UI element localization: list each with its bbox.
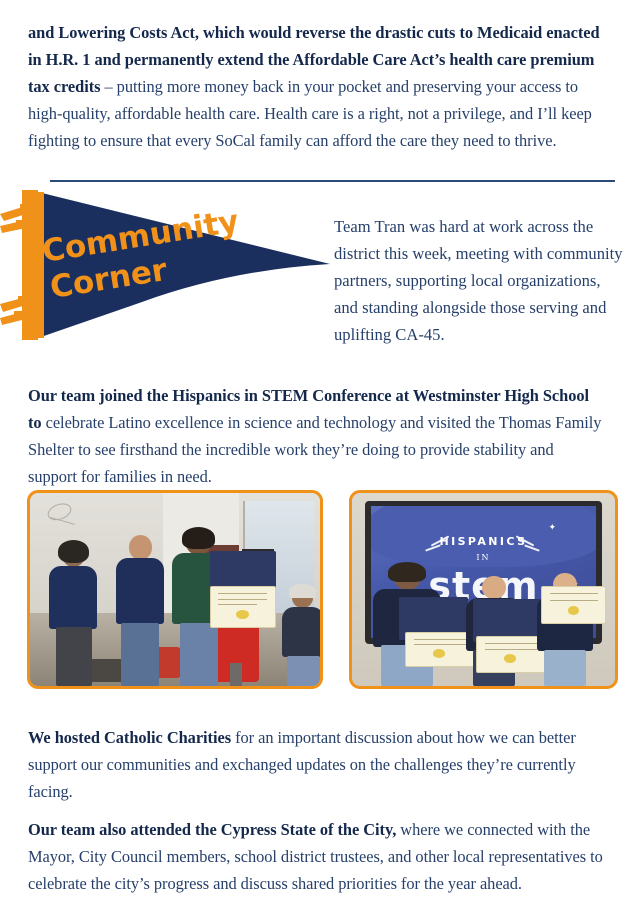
stem-paragraph-rest: celebrate Latino excellence in science a… — [28, 413, 601, 486]
screen-title: HISPANICS — [371, 535, 595, 548]
photo-left-scene — [30, 493, 320, 686]
screen-connector: IN — [371, 553, 595, 562]
pennant-pole-edge — [38, 192, 44, 338]
sparkle-icon: ✦ — [549, 522, 557, 533]
photo-right-scene: ✦ ✦ HISPANICS IN stem — [352, 493, 615, 686]
stem-paragraph: Our team joined the Hispanics in STEM Co… — [28, 382, 606, 490]
photo-right-content: ✦ ✦ HISPANICS IN stem — [352, 493, 615, 686]
charities-paragraph-bold-lead: We hosted Catholic Charities — [28, 728, 231, 747]
charities-paragraph: We hosted Catholic Charities for an impo… — [28, 724, 598, 805]
photo-left-content — [30, 493, 320, 686]
photo-right[interactable]: ✦ ✦ HISPANICS IN stem — [349, 490, 618, 689]
pennant-pole — [22, 190, 38, 340]
ceiling-decor-icon — [39, 501, 85, 528]
community-corner-pennant: Community Corner — [0, 190, 336, 340]
top-paragraph: and Lowering Costs Act, which would reve… — [28, 19, 614, 154]
pennant-paragraph: Team Tran was hard at work across the di… — [334, 213, 626, 349]
photo-left[interactable] — [27, 490, 323, 689]
newsletter-page: and Lowering Costs Act, which would reve… — [0, 0, 640, 905]
cypress-paragraph-bold-lead: Our team also attended the Cypress State… — [28, 820, 396, 839]
cypress-paragraph: Our team also attended the Cypress State… — [28, 816, 614, 897]
photo-row: ✦ ✦ HISPANICS IN stem — [0, 490, 640, 690]
top-paragraph-rest: – putting more money back in your pocket… — [28, 77, 592, 150]
pennant-svg: Community Corner — [0, 190, 336, 340]
section-divider — [50, 180, 615, 182]
